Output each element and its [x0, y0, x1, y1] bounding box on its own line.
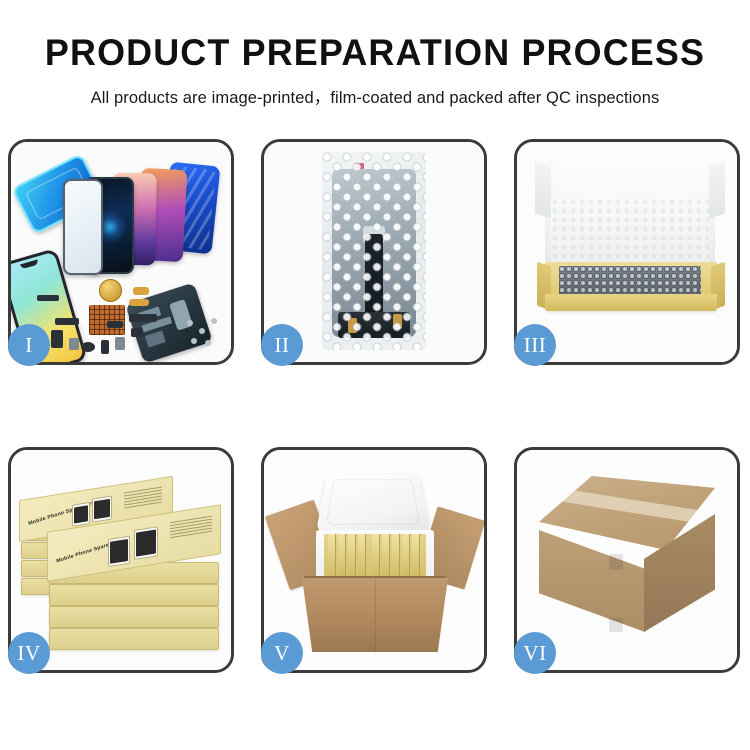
- process-step-2: II: [261, 139, 487, 365]
- carton-flap-seam: [609, 554, 623, 570]
- stacked-box: [49, 628, 219, 650]
- box-printed-screen: [108, 536, 130, 567]
- tape-strip: [539, 482, 715, 531]
- step-badge-5: V: [261, 632, 303, 674]
- small-module-part: [69, 338, 79, 350]
- small-module-part: [131, 328, 143, 337]
- yellow-box-edge: [372, 534, 380, 580]
- product-preparation-process-page: PRODUCT PREPARATION PROCESS All products…: [0, 0, 750, 750]
- carton-front-face: [539, 530, 645, 632]
- stacked-box: [49, 584, 219, 606]
- carton-body: [302, 578, 448, 652]
- process-step-5: V: [261, 447, 487, 673]
- printed-screen-glass: [110, 539, 128, 564]
- step-badge-1: I: [8, 324, 50, 366]
- process-step-6: VI: [514, 447, 740, 673]
- box-printed-screen: [92, 495, 112, 522]
- copper-mesh-part: [89, 305, 125, 335]
- flex-cable-part: [107, 321, 123, 328]
- yellow-box-front: [545, 294, 717, 311]
- step-5-image: [264, 450, 484, 670]
- step-2-image: [264, 142, 484, 362]
- step-badge-4: IV: [8, 632, 50, 674]
- printed-screen-glass: [74, 505, 88, 523]
- printed-screen-glass: [94, 499, 110, 520]
- small-module-part: [101, 340, 109, 354]
- carton-flap-seam: [609, 618, 623, 632]
- gold-connector-part: [133, 287, 149, 295]
- bubble-wrapped-contents: [559, 266, 701, 296]
- step-badge-3: III: [514, 324, 556, 366]
- step-badge-6: VI: [514, 632, 556, 674]
- step-6-image: [517, 450, 737, 670]
- step-1-image: [11, 142, 231, 362]
- screw: [211, 318, 217, 324]
- yellow-boxes-inside: [324, 534, 426, 580]
- yellow-box-edge: [382, 534, 390, 580]
- yellow-box-edge: [328, 534, 336, 580]
- yellow-box-edge: [392, 534, 400, 580]
- process-step-1: I: [8, 139, 234, 365]
- box-spec-lines: [124, 487, 162, 511]
- foam-lid: [316, 474, 430, 533]
- vibrator-part: [81, 342, 95, 352]
- box-spec-lines: [170, 516, 212, 541]
- step-badge-2: II: [261, 324, 303, 366]
- flex-cable-part: [37, 295, 59, 301]
- yellow-box-edge: [412, 534, 420, 580]
- page-title: PRODUCT PREPARATION PROCESS: [11, 34, 739, 71]
- flex-cable-part: [55, 318, 79, 325]
- yellow-box-edge: [338, 534, 346, 580]
- step-3-image: [517, 142, 737, 362]
- box-printed-screen: [134, 526, 158, 560]
- speaker-module: [99, 279, 122, 302]
- screw: [205, 340, 211, 346]
- yellow-box-edge: [402, 534, 410, 580]
- box-stack: Mobile Phone Spare Parts: [17, 466, 225, 658]
- process-step-grid: I II: [8, 139, 742, 673]
- printed-screen-glass: [136, 530, 156, 557]
- screws-group: [185, 316, 225, 350]
- small-module-part: [51, 330, 63, 348]
- screw: [187, 320, 193, 326]
- gold-connector-part: [129, 299, 149, 306]
- screw: [199, 328, 205, 334]
- yellow-box-edge: [348, 534, 356, 580]
- sim-tray-part: [115, 337, 125, 350]
- spare-parts-cluster: [11, 142, 231, 362]
- step-4-image: Mobile Phone Spare Parts: [11, 450, 231, 670]
- process-step-4: Mobile Phone Spare Parts: [8, 447, 234, 673]
- box-printed-screen: [72, 502, 90, 527]
- screw: [191, 338, 197, 344]
- page-subtitle: All products are image-printed，film-coat…: [0, 84, 750, 108]
- bubble-wrap-bag: [322, 152, 426, 350]
- yellow-box-edge: [358, 534, 366, 580]
- bubble-texture: [322, 152, 426, 350]
- stacked-box: [49, 606, 219, 628]
- header: PRODUCT PREPARATION PROCESS All products…: [0, 0, 750, 108]
- flex-cable-part: [129, 314, 157, 322]
- foam-insert: [551, 198, 709, 270]
- process-step-3: III: [514, 139, 740, 365]
